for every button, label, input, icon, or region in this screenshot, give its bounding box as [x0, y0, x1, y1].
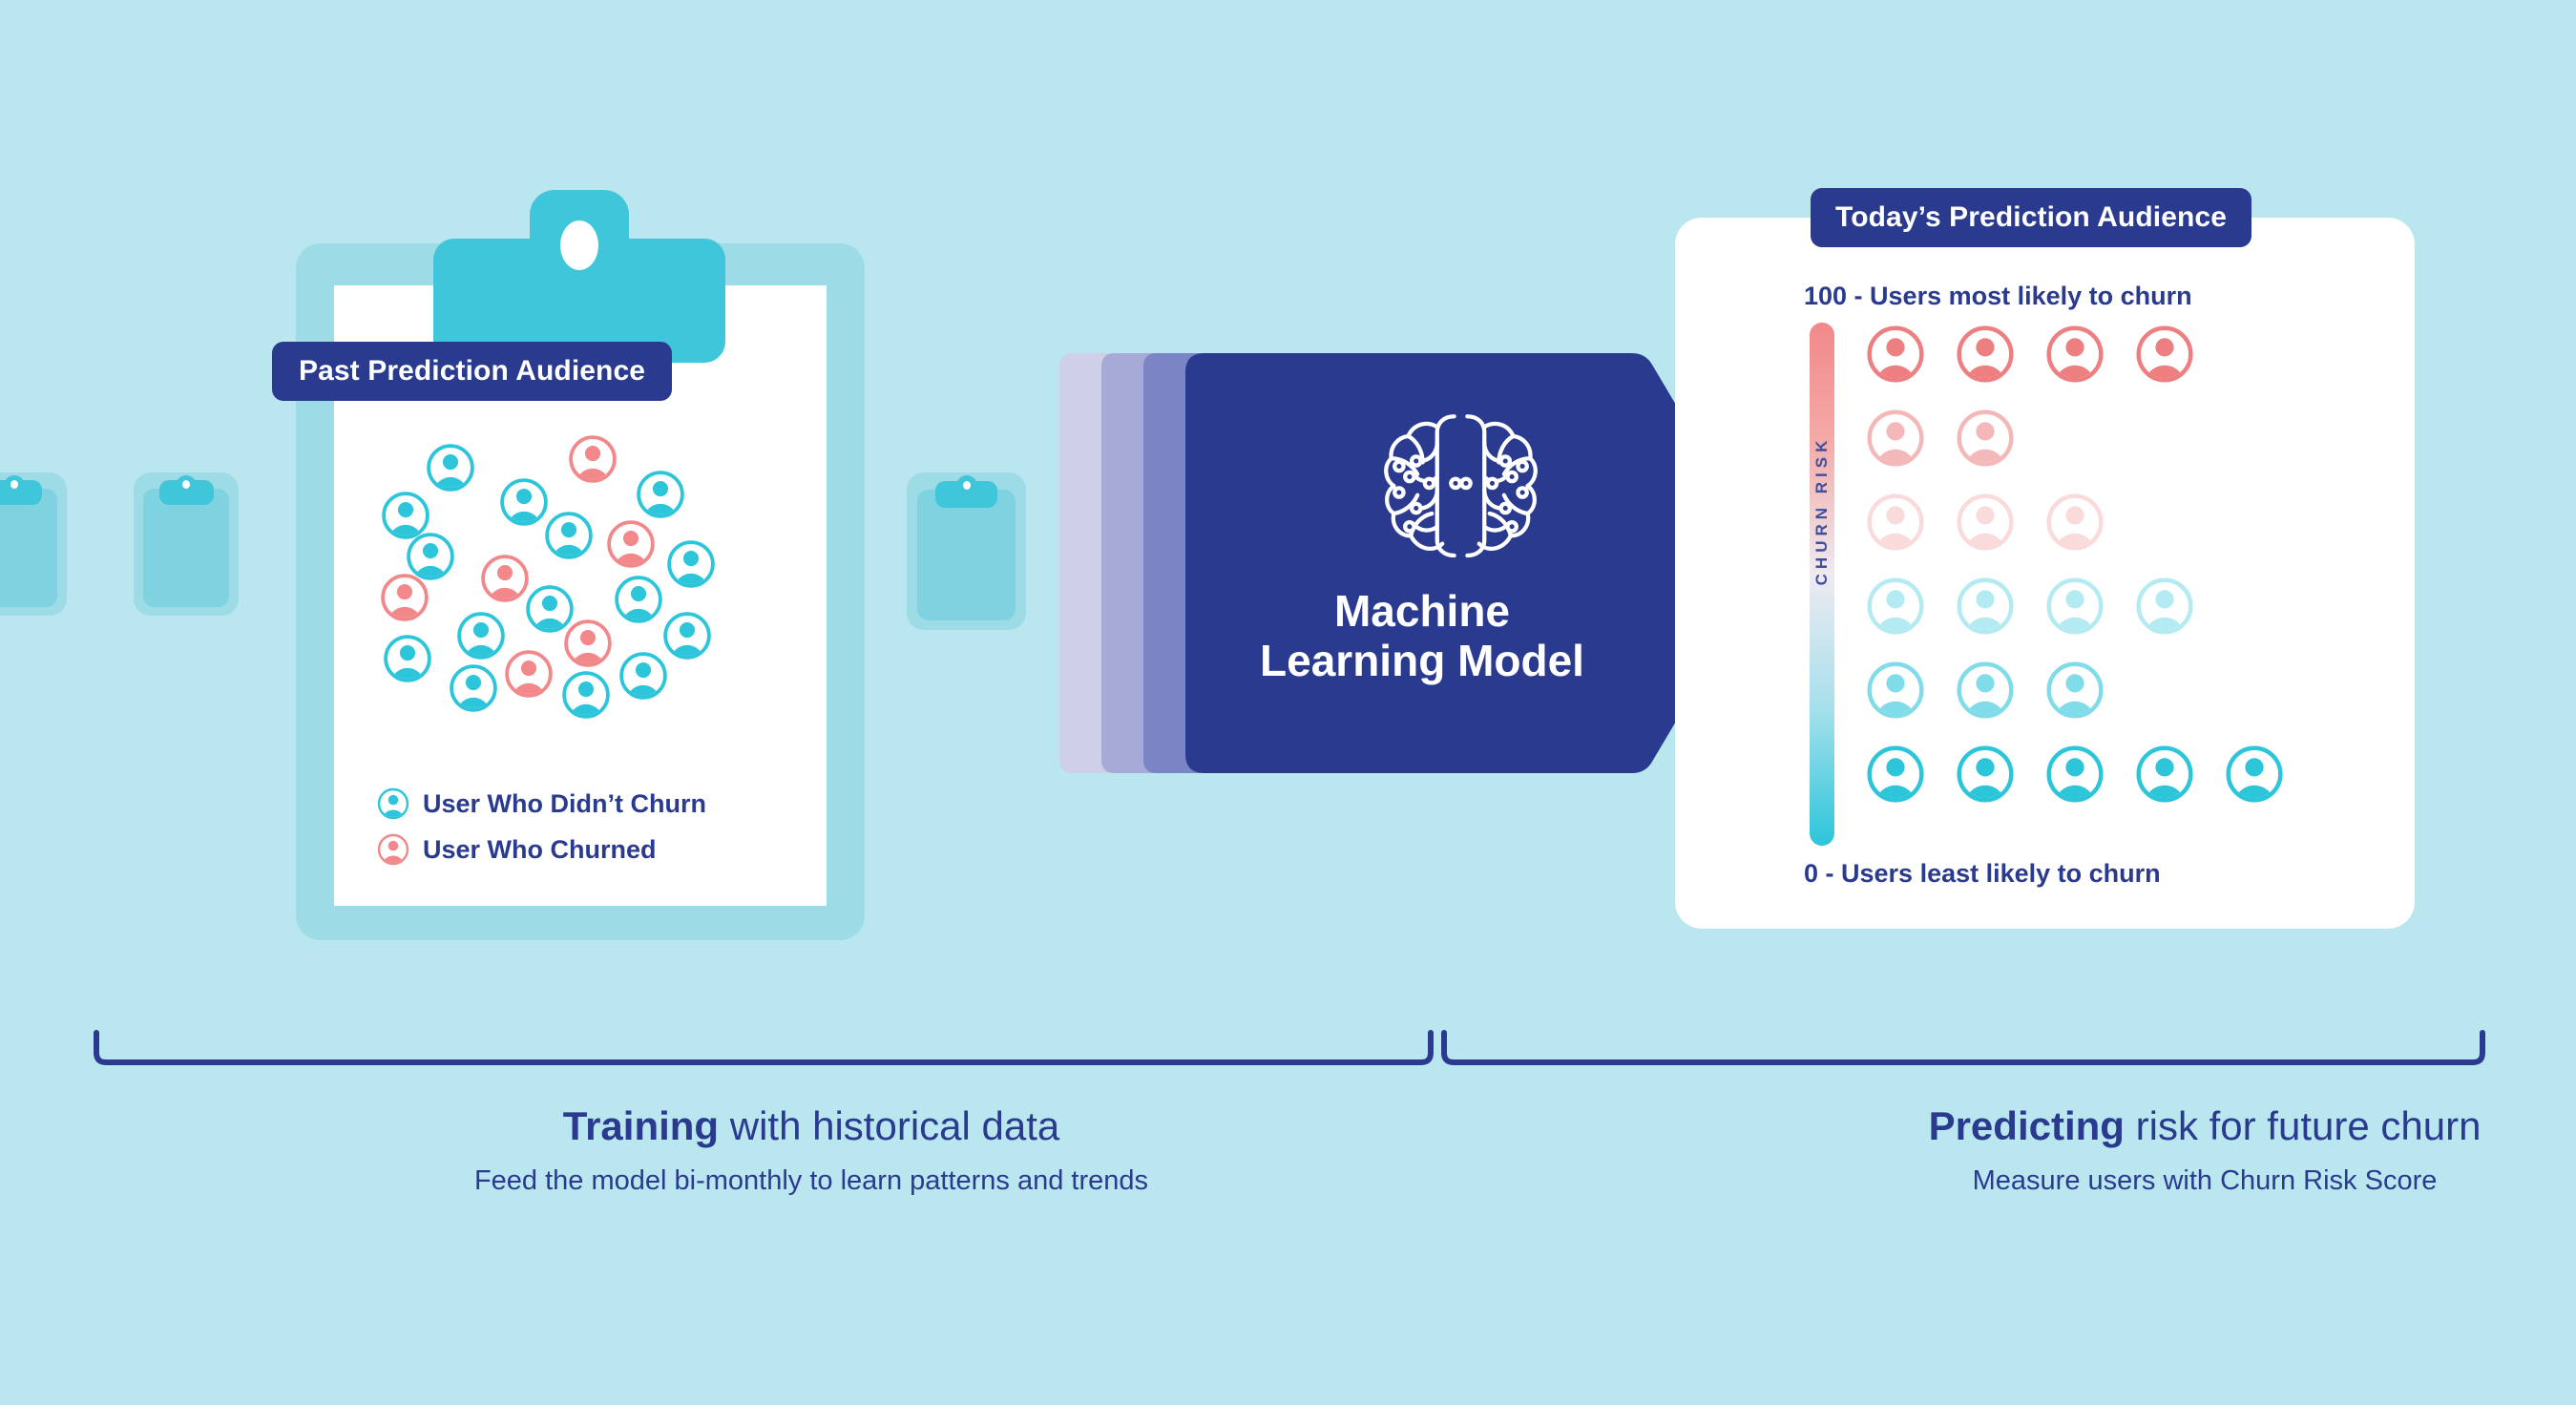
training-caption-subtitle: Feed the model bi-monthly to learn patte… [95, 1165, 1527, 1197]
retained-user-icon [499, 477, 549, 527]
prediction-user-icon [1956, 325, 2015, 384]
section-brackets [0, 1012, 2576, 1079]
infographic-canvas: Past Prediction Audience User Who Didn’t… [0, 0, 2576, 1405]
retained-user-icon [636, 470, 685, 519]
churned-user-icon [504, 649, 554, 699]
brain-circuit-icon [1382, 409, 1539, 556]
training-caption-rest: with historical data [719, 1103, 1059, 1148]
churned-user-icon [568, 434, 618, 484]
prediction-user-icon [1866, 577, 1925, 636]
prediction-user-icon [2135, 744, 2194, 804]
training-caption-strong: Training [563, 1103, 719, 1148]
machine-learning-model-title: Machine Learning Model [1222, 587, 1623, 685]
legend-item-label: User Who Churned [423, 835, 657, 865]
prediction-user-icon [1866, 493, 1925, 552]
churned-user-icon [563, 619, 613, 668]
retained-user-icon [666, 539, 716, 589]
scale-bottom-label: 0 - Users least likely to churn [1804, 859, 2161, 889]
prediction-user-icon [2045, 577, 2105, 636]
prediction-user-icon [2225, 744, 2284, 804]
prediction-user-icon [1956, 493, 2015, 552]
predicting-caption-rest: risk for future churn [2125, 1103, 2481, 1148]
churned-user-icon [480, 554, 530, 603]
retained-user-icon [614, 575, 663, 624]
prediction-user-icon [2045, 325, 2105, 384]
training-caption-title: Training with historical data [95, 1102, 1527, 1150]
prediction-user-icon [1956, 577, 2015, 636]
retained-user-icon [618, 651, 668, 701]
training-caption: Training with historical data Feed the m… [95, 1102, 1527, 1197]
predicting-caption-subtitle: Measure users with Churn Risk Score [1460, 1165, 2576, 1197]
prediction-user-icon [2045, 744, 2105, 804]
ghost-clipboard-paper [0, 489, 57, 608]
ghost-clipboard-paper [917, 490, 1016, 620]
user-icon [377, 833, 409, 866]
prediction-user-icon [1866, 661, 1925, 720]
ghost-clipboard [134, 472, 239, 616]
churn-legend: User Who Didn’t ChurnUser Who Churned [377, 781, 706, 872]
scale-top-label: 100 - Users most likely to churn [1804, 282, 2192, 311]
predicting-caption-title: Predicting risk for future churn [1460, 1102, 2576, 1150]
retained-user-icon [544, 511, 594, 560]
prediction-user-icon [2045, 661, 2105, 720]
churned-user-icon [380, 573, 429, 622]
prediction-user-icon [2135, 325, 2194, 384]
retained-user-icon [383, 634, 432, 683]
prediction-user-grid [1866, 325, 2372, 840]
retained-user-icon [561, 670, 611, 720]
predicting-caption-strong: Predicting [1929, 1103, 2125, 1148]
churned-user-icon [606, 519, 656, 569]
legend-item: User Who Churned [377, 827, 706, 872]
past-prediction-audience-label: Past Prediction Audience [272, 342, 672, 401]
ghost-clipboard [0, 472, 67, 616]
retained-user-icon [662, 611, 712, 661]
prediction-user-icon [1866, 744, 1925, 804]
retained-user-icon [426, 443, 475, 493]
todays-prediction-audience-label: Today’s Prediction Audience [1811, 188, 2251, 247]
legend-item: User Who Didn’t Churn [377, 781, 706, 827]
ghost-clipboard [907, 472, 1026, 630]
ml-title-line-2: Learning Model [1222, 637, 1623, 686]
ml-title-line-1: Machine [1222, 587, 1623, 637]
prediction-user-icon [1956, 744, 2015, 804]
clipboard-clip-hole [560, 220, 598, 270]
ghost-clipboard-hole [963, 481, 971, 490]
prediction-user-icon [2135, 577, 2194, 636]
ghost-clipboard-paper [143, 489, 229, 608]
predicting-caption: Predicting risk for future churn Measure… [1460, 1102, 2576, 1197]
prediction-user-icon [2045, 493, 2105, 552]
legend-item-label: User Who Didn’t Churn [423, 789, 706, 819]
ghost-clipboard-hole [182, 480, 190, 489]
user-icon [377, 787, 409, 820]
prediction-user-icon [1956, 661, 2015, 720]
prediction-user-icon [1866, 325, 1925, 384]
retained-user-icon [456, 611, 506, 661]
prediction-user-icon [1956, 409, 2015, 468]
ghost-clipboard-hole [10, 480, 18, 489]
prediction-user-icon [1866, 409, 1925, 468]
retained-user-icon [449, 663, 498, 713]
